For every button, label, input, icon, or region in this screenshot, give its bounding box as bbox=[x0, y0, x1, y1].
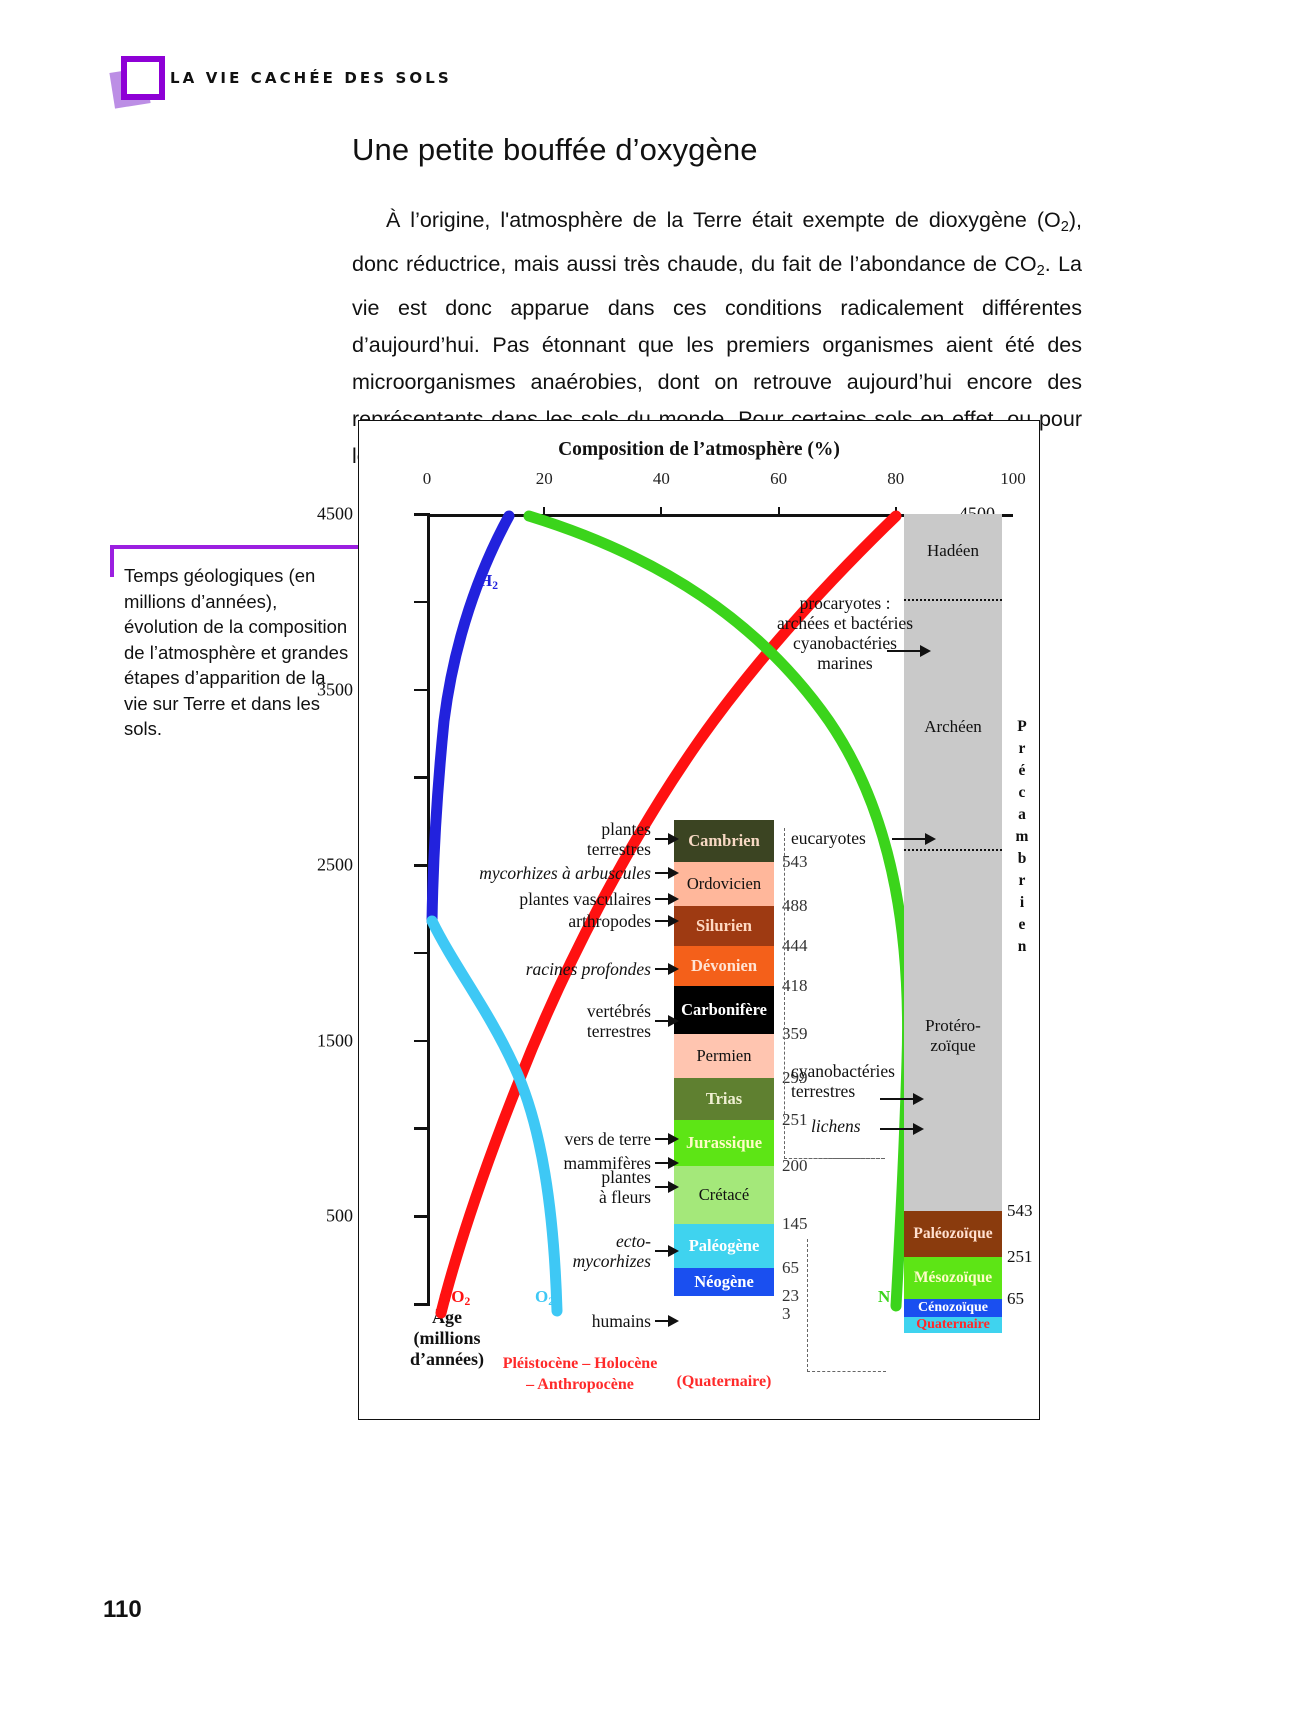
precambrian-letter: r bbox=[1011, 870, 1033, 892]
left-annotation-8: plantesà fleurs bbox=[419, 1167, 651, 1207]
era-label: Quaternaire bbox=[916, 1317, 990, 1333]
period-label: Carbonifère bbox=[681, 1000, 767, 1020]
period-label: Silurien bbox=[696, 916, 752, 936]
y-tick-label-500: 500 bbox=[326, 1206, 353, 1227]
arrow-left-6 bbox=[655, 1133, 675, 1145]
quaternary-label: (Quaternaire) bbox=[674, 1373, 774, 1391]
precambrian-letter: m bbox=[1011, 826, 1033, 848]
precambrian-vertical-label: Précambrien bbox=[1011, 716, 1033, 958]
arrow-eukaryotes bbox=[892, 833, 936, 845]
dashed-connector-eras bbox=[784, 828, 885, 1159]
precambrian-letter: n bbox=[1011, 936, 1033, 958]
period-dvonien[interactable]: Dévonien bbox=[674, 946, 774, 986]
caption-text: Temps géologiques (en millions d’années)… bbox=[124, 563, 354, 742]
y-tick-label-2500: 2500 bbox=[317, 855, 353, 876]
left-annotation-9: ecto-mycorhizes bbox=[419, 1231, 651, 1271]
arrow-cyanobacteria-terrestrial bbox=[880, 1093, 924, 1105]
precambrian-letter: c bbox=[1011, 782, 1033, 804]
period-label: Permien bbox=[697, 1046, 752, 1066]
page-number: 110 bbox=[103, 1596, 142, 1624]
era-msozoque[interactable]: Mésozoïque bbox=[904, 1257, 1002, 1299]
period-label: Jurassique bbox=[686, 1133, 762, 1153]
arrow-left-1 bbox=[655, 867, 675, 879]
era-age-543: 543 bbox=[1007, 1201, 1033, 1221]
period-trias[interactable]: Trias bbox=[674, 1078, 774, 1120]
precambrian-letter: e bbox=[1011, 914, 1033, 936]
period-column: Cambrien543Ordovicien488Silurien444Dévon… bbox=[674, 820, 774, 1296]
pleistocene-label: Pléistocène – Holocène– Anthropocène bbox=[485, 1353, 675, 1395]
period-ordovicien[interactable]: Ordovicien bbox=[674, 862, 774, 906]
period-age-23: 23 bbox=[782, 1286, 799, 1306]
left-annotation-1: mycorhizes à arbuscules bbox=[419, 863, 651, 883]
period-label: Dévonien bbox=[691, 956, 757, 976]
left-annotation-6: vers de terre bbox=[419, 1129, 651, 1149]
left-annotation-3: arthropodes bbox=[419, 911, 651, 931]
period-label: Néogène bbox=[694, 1272, 754, 1292]
left-annotation-0: plantesterrestres bbox=[419, 819, 651, 859]
arrow-prokaryotes bbox=[887, 645, 931, 657]
era-age-65: 65 bbox=[1007, 1289, 1024, 1309]
era-label: Mésozoïque bbox=[914, 1269, 992, 1287]
period-permien[interactable]: Permien bbox=[674, 1034, 774, 1078]
dashed-connector-bottom bbox=[784, 1158, 884, 1159]
y-tick-label-3500: 3500 bbox=[317, 679, 353, 700]
period-carbonifre[interactable]: Carbonifère bbox=[674, 986, 774, 1034]
period-label: Ordovicien bbox=[687, 874, 761, 894]
period-age-last: 3 bbox=[782, 1304, 791, 1324]
left-annotation-10: humains bbox=[419, 1311, 651, 1331]
arrow-lichens bbox=[880, 1123, 924, 1135]
book-logo-icon bbox=[112, 56, 164, 108]
era-cnozoque[interactable]: Cénozoïque bbox=[904, 1299, 1002, 1317]
arrow-left-4 bbox=[655, 963, 675, 975]
arrow-left-7 bbox=[655, 1157, 675, 1169]
period-age-200: 200 bbox=[782, 1156, 808, 1176]
period-jurassique[interactable]: Jurassique bbox=[674, 1120, 774, 1166]
gas-label-h2: H2 bbox=[479, 571, 498, 592]
y-tick-label-4500: 4500 bbox=[317, 504, 353, 525]
precambrian-letter: é bbox=[1011, 760, 1033, 782]
left-annotation-2: plantes vasculaires bbox=[419, 889, 651, 909]
left-annotation-5: vertébrésterrestres bbox=[419, 1001, 651, 1041]
running-head-title: LA VIE CACHÉE DES SOLS bbox=[170, 69, 452, 87]
period-crtac[interactable]: Crétacé bbox=[674, 1166, 774, 1224]
page-title: Une petite bouffée d’oxygène bbox=[352, 132, 1082, 168]
era-quaternaire[interactable]: Quaternaire bbox=[904, 1317, 1002, 1333]
y-tick-label-1500: 1500 bbox=[317, 1030, 353, 1051]
arrow-left-3 bbox=[655, 915, 675, 927]
arrow-left-8 bbox=[655, 1181, 675, 1193]
precambrian-letter: i bbox=[1011, 892, 1033, 914]
eon-divider-archean-proterozoic bbox=[904, 849, 1002, 851]
right-annotation-prokaryotes: procaryotes :archées et bactériescyanoba… bbox=[765, 593, 925, 673]
period-palogne[interactable]: Paléogène bbox=[674, 1224, 774, 1268]
dashed-connector-quaternary bbox=[807, 1239, 886, 1372]
eon-label-archeen: Archéen bbox=[904, 717, 1002, 737]
sub-o2: 2 bbox=[1061, 219, 1069, 235]
eon-label-proterozoique: Protéro-zoïque bbox=[904, 1016, 1002, 1056]
period-label: Crétacé bbox=[699, 1185, 749, 1205]
period-label: Cambrien bbox=[688, 831, 760, 851]
arrow-left-5 bbox=[655, 1015, 675, 1027]
arrow-left-0 bbox=[655, 833, 675, 845]
gas-label-co2: CO2 bbox=[439, 1287, 470, 1308]
arrow-left-9 bbox=[655, 1245, 675, 1257]
precambrian-letter: b bbox=[1011, 848, 1033, 870]
era-palozoque[interactable]: Paléozoïque bbox=[904, 1211, 1002, 1257]
period-label: Paléogène bbox=[689, 1236, 760, 1256]
arrow-left-2 bbox=[655, 893, 675, 905]
era-age-251: 251 bbox=[1007, 1247, 1033, 1267]
period-cambrien[interactable]: Cambrien bbox=[674, 820, 774, 862]
era-label: Paléozoïque bbox=[913, 1225, 992, 1243]
period-age-145: 145 bbox=[782, 1214, 808, 1234]
period-label: Trias bbox=[706, 1089, 742, 1109]
running-head: LA VIE CACHÉE DES SOLS bbox=[112, 52, 712, 108]
sub-co2: 2 bbox=[1037, 263, 1045, 279]
geological-timeline-figure: Composition de l’atmosphère (%) 02040608… bbox=[358, 420, 1040, 1420]
left-annotation-4: racines profondes bbox=[419, 959, 651, 979]
eon-label-hadeen: Hadéen bbox=[904, 541, 1002, 561]
period-age-65: 65 bbox=[782, 1258, 799, 1278]
period-silurien[interactable]: Silurien bbox=[674, 906, 774, 946]
precambrian-letter: a bbox=[1011, 804, 1033, 826]
precambrian-letter: P bbox=[1011, 716, 1033, 738]
period-nogne[interactable]: Néogène bbox=[674, 1268, 774, 1296]
gas-label-o2: O2 bbox=[535, 1287, 554, 1308]
para-part-1: À l’origine, l'atmosphère de la Terre ét… bbox=[386, 208, 1061, 232]
arrow-left-10 bbox=[655, 1315, 675, 1327]
era-label: Cénozoïque bbox=[918, 1300, 988, 1316]
precambrian-letter: r bbox=[1011, 738, 1033, 760]
